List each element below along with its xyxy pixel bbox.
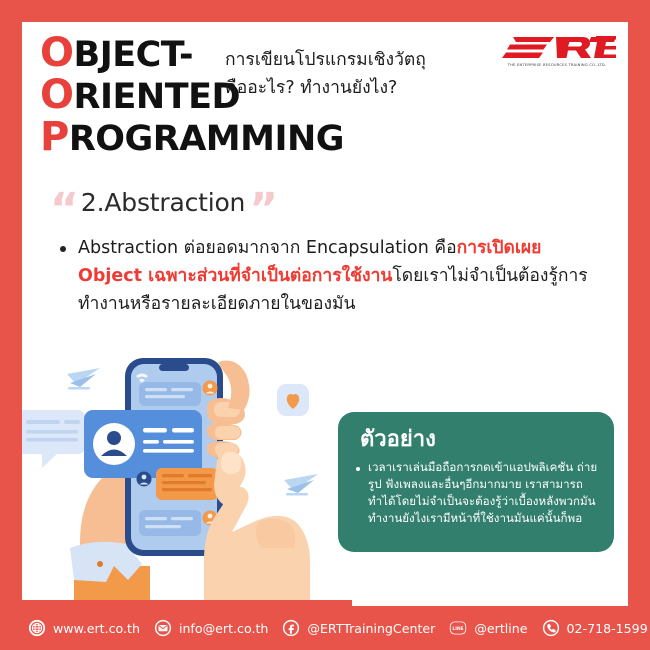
envelope-icon (154, 619, 172, 637)
section-heading: “ 2.Abstraction ” (50, 182, 278, 222)
poster-root: OBJECT- ORIENTED PROGRAMMING การเขียนโปร… (0, 0, 650, 650)
oop-cap-p: P (40, 114, 69, 160)
footer-item-website[interactable]: www.ert.co.th (28, 619, 140, 637)
ert-logo-tagline: THE ENTERPRISE RESOURCES TRAINING CO.,LT… (498, 63, 616, 67)
content-card: OBJECT- ORIENTED PROGRAMMING การเขียนโปร… (22, 22, 628, 606)
oop-title-line-3: PROGRAMMING (40, 120, 344, 157)
line-icon: LINE (449, 619, 467, 637)
oop-rest-3: ROGRAMMING (69, 119, 344, 159)
right-hand-pointing (204, 450, 310, 606)
line-icon-text: LINE (453, 626, 464, 632)
footer-item-email[interactable]: info@ert.co.th (154, 619, 268, 637)
facebook-icon (282, 619, 300, 637)
speech-bubble-left (22, 410, 85, 468)
phone-icon (542, 619, 560, 637)
example-box-title: ตัวอย่าง (360, 421, 436, 456)
heart-icon (277, 384, 309, 416)
footer-contact-bar: www.ert.co.th info@ert.co.th (0, 606, 650, 650)
example-bullet-row: เวลาเราเล่นมือถือการกดเข้าแอปพลิเคชัน ถ่… (356, 459, 600, 527)
globe-icon (28, 619, 46, 637)
body-text-part1: Abstraction ต่อยอดมากจาก Encapsulation ค… (78, 238, 457, 258)
oop-cap-o2: O (40, 72, 74, 118)
paper-plane-icon-2 (284, 474, 318, 496)
section-heading-text: 2.Abstraction (81, 188, 245, 217)
example-box: ตัวอย่าง เวลาเราเล่นมือถือการกดเข้าแอปพล… (338, 412, 614, 552)
footer-label-email: info@ert.co.th (179, 621, 268, 636)
footer-item-facebook[interactable]: @ERTTrainingCenter (282, 619, 435, 637)
body-bullet-row: Abstraction ต่อยอดมากจาก Encapsulation ค… (58, 234, 610, 318)
phone-hands-illustration (22, 352, 352, 606)
body-block: Abstraction ต่อยอดมากจาก Encapsulation ค… (58, 234, 610, 318)
header-subtitle-line-2: คืออะไร? ทำงานยังไง? (225, 74, 495, 102)
ert-logo: THE ENTERPRISE RESOURCES TRAINING CO.,LT… (498, 34, 616, 78)
footer-item-phone[interactable]: 02-718-1599 (542, 619, 648, 637)
example-bullet-text: เวลาเราเล่นมือถือการกดเข้าแอปพลิเคชัน ถ่… (368, 459, 600, 527)
header-subtitle-line-1: การเขียนโปรแกรมเชิงวัตถุ (225, 46, 495, 74)
paper-plane-icon-1 (67, 368, 100, 390)
oop-cap-o1: O (40, 30, 74, 76)
oop-rest-2: RIENTED (74, 77, 241, 117)
body-bullet-text: Abstraction ต่อยอดมากจาก Encapsulation ค… (78, 234, 610, 318)
footer-label-facebook: @ERTTrainingCenter (307, 621, 435, 636)
footer-label-website: www.ert.co.th (53, 621, 140, 636)
profile-card (84, 410, 202, 478)
footer-label-line: @ertline (474, 621, 527, 636)
footer-label-phone: 02-718-1599 (567, 621, 648, 636)
example-bullet-dot-icon (356, 467, 360, 471)
header: OBJECT- ORIENTED PROGRAMMING การเขียนโปร… (22, 22, 628, 172)
bullet-dot-icon (60, 246, 66, 252)
header-subtitle: การเขียนโปรแกรมเชิงวัตถุ คืออะไร? ทำงานย… (225, 46, 495, 102)
oop-rest-1: BJECT- (74, 35, 194, 75)
ert-logo-mark (498, 34, 616, 62)
footer-item-line[interactable]: LINE @ertline (449, 619, 527, 637)
